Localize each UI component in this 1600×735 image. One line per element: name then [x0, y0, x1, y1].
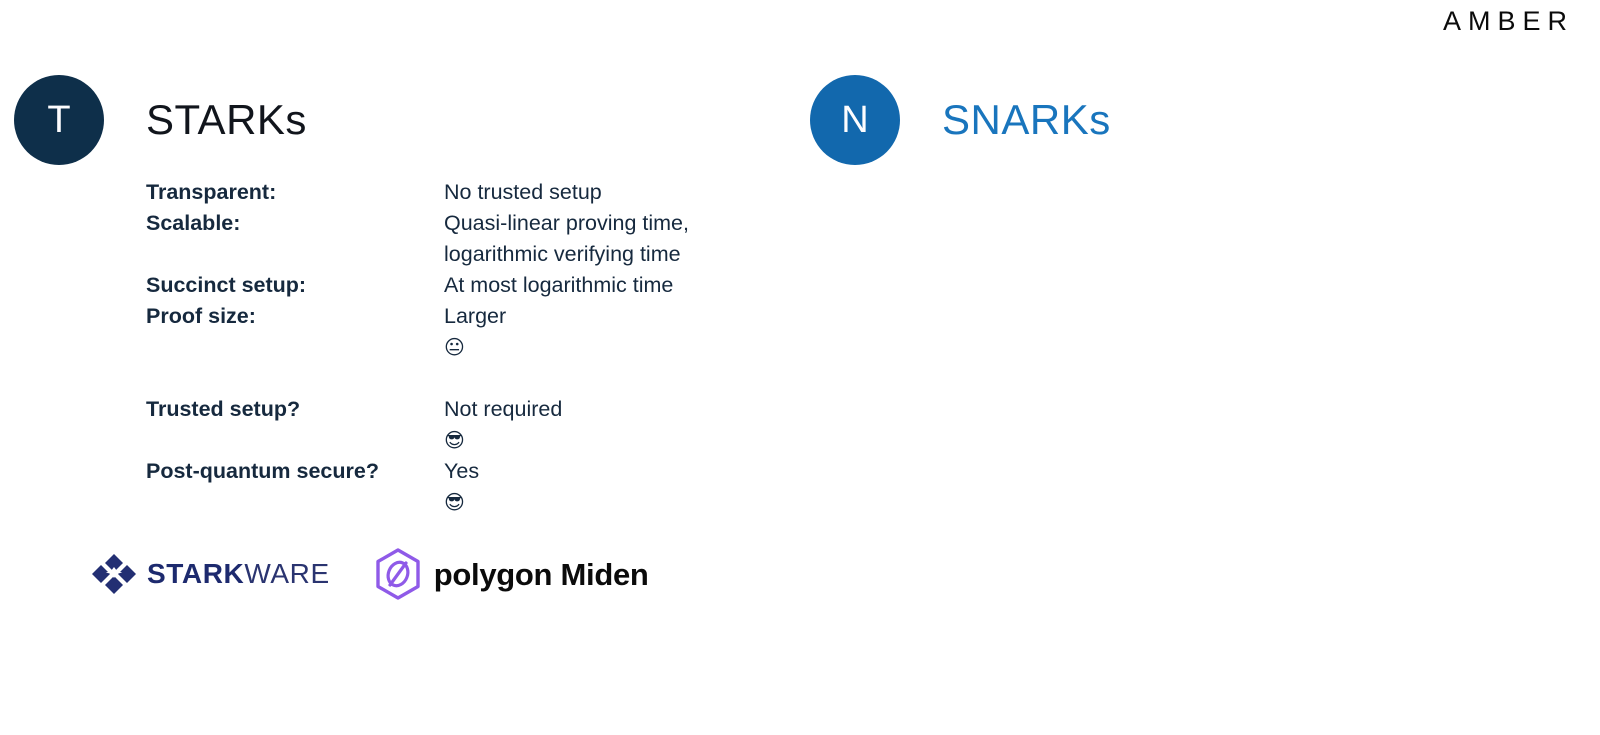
spec-value: At most logarithmic time: [444, 270, 673, 301]
column-snarks: N SNARKs Non-interactive: Proof is singl…: [800, 0, 1600, 662]
starks-logo-row: STARKWARE polygon Miden: [92, 548, 649, 600]
spec-row: Proof size: Larger 😐: [146, 301, 689, 363]
sunglasses-face-icon: 😎: [444, 490, 465, 514]
column-starks: T STARKs Transparent: No trusted setup S…: [0, 0, 800, 662]
spec-key: Post-quantum secure?: [146, 456, 444, 518]
spec-key: Trusted setup?: [146, 394, 444, 456]
starks-title: STARKs: [146, 99, 307, 141]
neutral-face-icon: 😐: [444, 335, 465, 359]
logo-starkware: STARKWARE: [92, 553, 330, 595]
starkware-wordmark: STARKWARE: [147, 560, 330, 588]
spec-value: Not required 😎: [444, 394, 562, 456]
spec-value: Yes 😎: [444, 456, 479, 518]
snarks-title: SNARKs: [942, 99, 1111, 141]
spec-row: Transparent: No trusted setup: [146, 177, 689, 208]
spec-row: Trusted setup? Not required 😎: [146, 394, 689, 456]
spec-row: Scalable: Quasi-linear proving time, log…: [146, 208, 689, 270]
starks-badge: T: [14, 75, 104, 165]
spec-key: Proof size:: [146, 301, 444, 363]
spec-row: Succinct setup: At most logarithmic time: [146, 270, 689, 301]
spec-value: No trusted setup: [444, 177, 602, 208]
starks-header: T STARKs: [14, 75, 307, 165]
starks-spec-list: Transparent: No trusted setup Scalable: …: [146, 177, 689, 518]
spec-key: Transparent:: [146, 177, 444, 208]
spec-key: Succinct setup:: [146, 270, 444, 301]
polygon-miden-wordmark: polygon Miden: [434, 559, 649, 590]
starkware-diamonds-icon: [92, 553, 136, 595]
spec-value: Larger 😐: [444, 301, 506, 363]
spec-row: Post-quantum secure? Yes 😎: [146, 456, 689, 518]
sunglasses-face-icon: 😎: [444, 428, 465, 452]
snarks-badge: N: [810, 75, 900, 165]
polygon-miden-hexagon-icon: [374, 548, 422, 600]
slide-root: AMBER T STARKs Transparent: No trusted s…: [0, 0, 1600, 662]
spec-key: Scalable:: [146, 208, 444, 270]
spec-spacer: [146, 363, 689, 394]
spec-value: Quasi-linear proving time, logarithmic v…: [444, 208, 689, 270]
logo-polygon-miden: polygon Miden: [374, 548, 649, 600]
snarks-header: N SNARKs: [810, 75, 1111, 165]
